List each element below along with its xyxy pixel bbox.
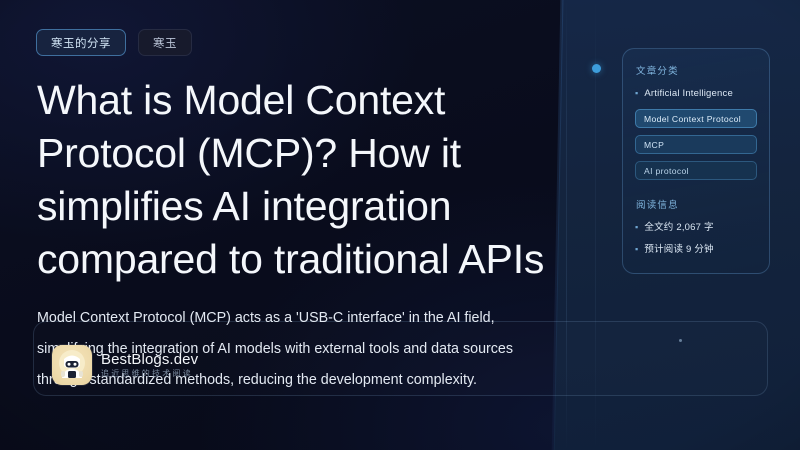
bullet-icon: ▪: [635, 87, 638, 100]
watermark-text: BestBlogs.dev 追近思维的技术阅读: [101, 351, 198, 379]
watermark: BestBlogs.dev 追近思维的技术阅读: [52, 345, 198, 385]
robot-avatar-icon: [52, 345, 92, 385]
tag-author[interactable]: 寒玉: [138, 29, 192, 56]
reading-item-label: 预计阅读 9 分钟: [644, 243, 713, 256]
watermark-tagline: 追近思维的技术阅读: [101, 369, 198, 379]
presentation-slide: 寒玉的分享 寒玉 What is Model Context Protocol …: [0, 0, 800, 450]
topic-chip-mcp-full[interactable]: Model Context Protocol: [635, 109, 757, 128]
watermark-name: BestBlogs.dev: [101, 351, 198, 368]
reading-item-wordcount: ▪ 全文约 2,067 字: [635, 221, 757, 234]
reading-item-label: 全文约 2,067 字: [644, 221, 713, 234]
bullet-icon: ▪: [635, 221, 638, 234]
reading-heading: 阅读信息: [636, 197, 757, 211]
category-item-label: Artificial Intelligence: [644, 87, 733, 100]
bullet-icon: ▪: [635, 243, 638, 256]
category-heading: 文章分类: [636, 63, 757, 77]
reading-item-duration: ▪ 预计阅读 9 分钟: [635, 243, 757, 256]
page-title: What is Model Context Protocol (MCP)? Ho…: [37, 74, 577, 286]
tag-bar: 寒玉的分享 寒玉: [36, 29, 192, 56]
category-item: ▪ Artificial Intelligence: [635, 87, 757, 100]
accent-dot-icon: [592, 64, 601, 73]
topic-chip-mcp[interactable]: MCP: [635, 135, 757, 154]
article-info-panel: 文章分类 ▪ Artificial Intelligence Model Con…: [622, 48, 770, 274]
topic-chip-ai-protocol[interactable]: AI protocol: [635, 161, 757, 180]
decorative-dot: [679, 339, 682, 342]
tag-author-share[interactable]: 寒玉的分享: [36, 29, 126, 56]
